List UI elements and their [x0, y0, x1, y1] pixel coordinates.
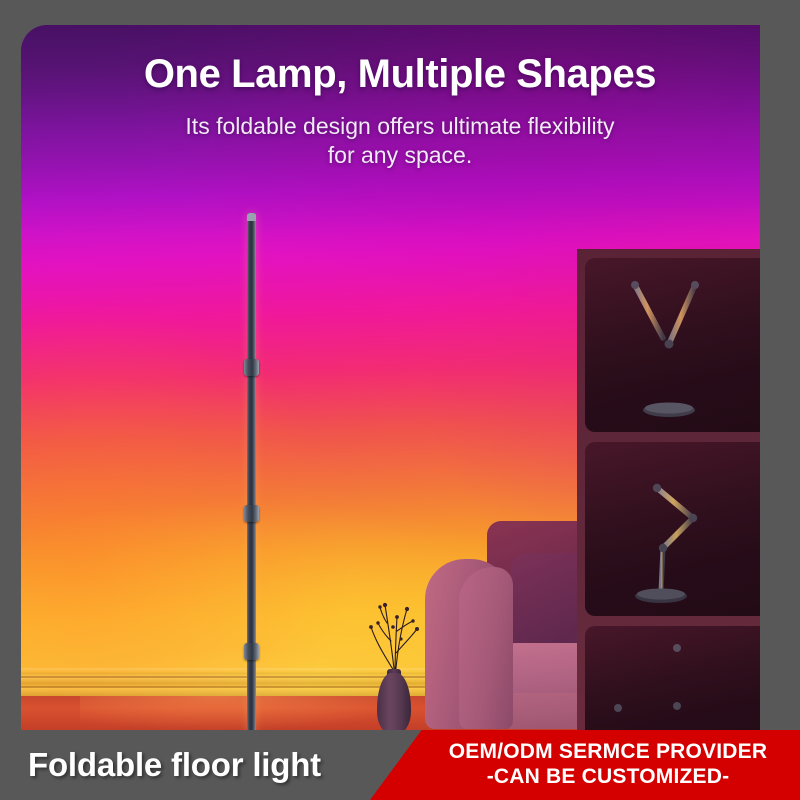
bottom-banner: Foldable floor light OEM/ODM SERMCE PROV…	[0, 730, 800, 800]
lamp-joint	[244, 505, 259, 522]
subheadline-line-1: Its foldable design offers ultimate flex…	[0, 112, 800, 141]
headline: One Lamp, Multiple Shapes	[0, 52, 800, 97]
dried-branches	[351, 583, 441, 679]
service-text-group: OEM/ODM SERMCE PROVIDER -CAN BE CUSTOMIZ…	[438, 740, 778, 790]
main-floor-lamp	[243, 213, 259, 730]
product-label: Foldable floor light	[28, 746, 321, 784]
shape-thumbnail-martini[interactable]	[585, 258, 760, 432]
lamp-joint	[244, 643, 259, 660]
warm-glow-left	[21, 293, 361, 730]
service-line-1: OEM/ODM SERMCE PROVIDER	[438, 740, 778, 765]
thumbnail-overlay	[585, 258, 760, 432]
thumbnail-overlay	[585, 442, 760, 616]
shape-thumbnail-zigzag[interactable]	[585, 442, 760, 616]
vase	[377, 673, 411, 730]
shape-thumbnail-staircase[interactable]	[585, 626, 760, 730]
subheadline: Its foldable design offers ultimate flex…	[0, 112, 800, 171]
sofa-armrest-inner	[459, 567, 513, 729]
lamp-joint	[244, 359, 259, 376]
lamp-pole-cap	[247, 213, 256, 221]
product-marketing-image: One Lamp, Multiple Shapes Its foldable d…	[0, 0, 800, 800]
shape-variant-rail	[577, 249, 760, 730]
decorative-vase-group	[351, 585, 441, 730]
subheadline-line-2: for any space.	[0, 141, 800, 170]
service-line-2: -CAN BE CUSTOMIZED-	[438, 765, 778, 790]
thumbnail-overlay	[585, 626, 760, 730]
